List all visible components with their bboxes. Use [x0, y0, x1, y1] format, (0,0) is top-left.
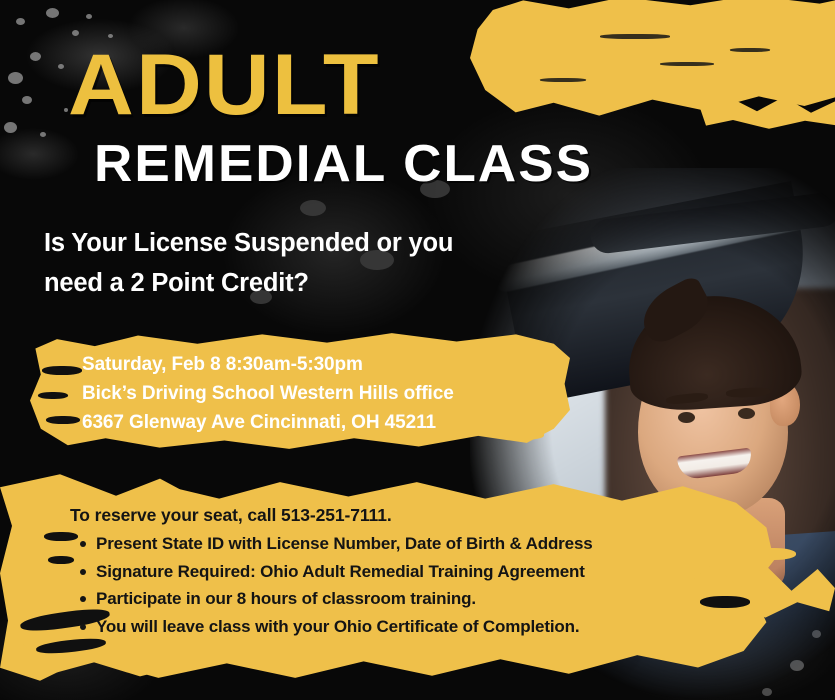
page-title: ADULT — [68, 44, 381, 127]
event-datetime: Saturday, Feb 8 8:30am-5:30pm — [82, 350, 552, 379]
requirements-list: Present State ID with License Number, Da… — [70, 530, 710, 640]
banner-grit — [748, 548, 796, 560]
paint-speck — [4, 122, 17, 133]
eye-left — [678, 412, 695, 423]
headline-line-1: Is Your License Suspended or you — [44, 224, 564, 264]
headline-question: Is Your License Suspended or you need a … — [44, 224, 564, 303]
flyer-poster: ADULT REMEDIAL CLASS Is Your License Sus… — [0, 0, 835, 700]
reserve-line: To reserve your seat, call 513-251-7111. — [70, 505, 710, 526]
paint-speck — [30, 52, 41, 61]
paint-speck — [86, 14, 92, 19]
banner-grit — [46, 416, 80, 424]
list-item: You will leave class with your Ohio Cert… — [96, 613, 710, 641]
page-subtitle: REMEDIAL CLASS — [94, 138, 593, 190]
headline-line-2: need a 2 Point Credit? — [44, 264, 564, 304]
paint-speck — [40, 132, 46, 137]
paint-speck — [46, 8, 59, 18]
brush-streak — [540, 78, 586, 82]
paint-speck — [22, 96, 32, 104]
banner-grit — [38, 392, 68, 399]
brush-streak — [730, 48, 770, 52]
event-details: Saturday, Feb 8 8:30am-5:30pm Bick’s Dri… — [82, 350, 552, 437]
eye-right — [738, 408, 755, 419]
paint-speck — [58, 64, 64, 69]
paint-speck — [8, 72, 23, 84]
banner-grit — [42, 366, 82, 375]
event-address: 6367 Glenway Ave Cincinnati, OH 45211 — [82, 408, 552, 437]
paint-speck — [16, 18, 25, 25]
brush-streak — [660, 62, 714, 66]
list-item: Participate in our 8 hours of classroom … — [96, 585, 710, 613]
list-item: Present State ID with License Number, Da… — [96, 530, 710, 558]
paint-speck — [300, 200, 326, 216]
event-venue: Bick’s Driving School Western Hills offi… — [82, 379, 552, 408]
brush-streak — [600, 34, 670, 39]
paint-speck — [72, 30, 79, 36]
list-item: Signature Required: Ohio Adult Remedial … — [96, 558, 710, 586]
requirements-block: To reserve your seat, call 513-251-7111.… — [70, 505, 710, 640]
